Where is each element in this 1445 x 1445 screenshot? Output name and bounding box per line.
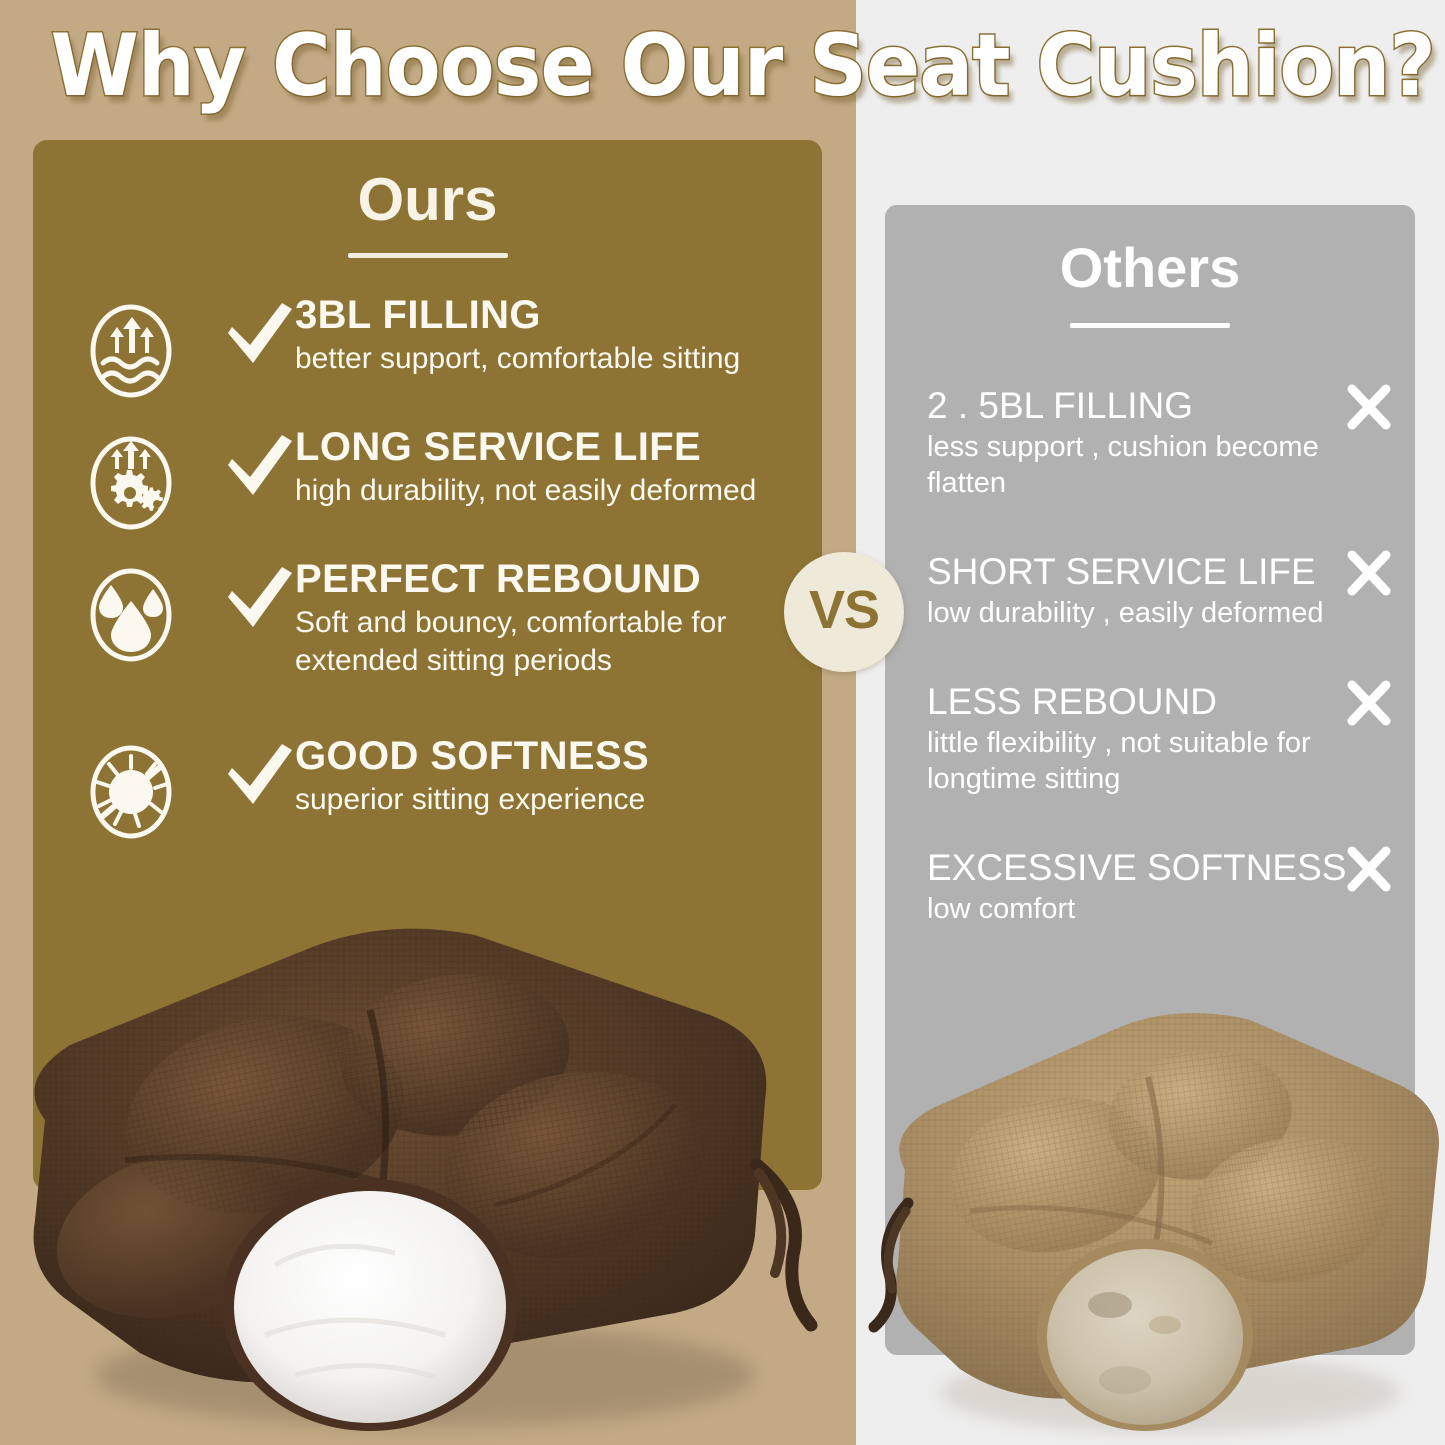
durability-gears-icon	[85, 433, 177, 533]
others-item-title: 2 . 5BL FILLING	[927, 383, 1382, 429]
others-heading-divider	[1070, 323, 1230, 328]
others-item-title: SHORT SERVICE LIFE	[927, 549, 1382, 595]
others-item-subtitle: less support , cushion become flatten	[927, 429, 1397, 501]
vs-badge: VS	[784, 552, 904, 672]
others-list-item: 2 . 5BL FILLING less support , cushion b…	[927, 383, 1382, 501]
ours-item-text: LONG SERVICE LIFE high durability, not e…	[295, 423, 815, 510]
ours-heading: Ours	[33, 165, 822, 234]
ours-item-title: 3BL FILLING	[295, 291, 815, 339]
check-icon	[220, 561, 300, 639]
others-list-item: SHORT SERVICE LIFE low durability , easi…	[927, 549, 1382, 631]
ours-item-text: GOOD SOFTNESS superior sitting experienc…	[295, 732, 815, 819]
cross-icon	[1344, 679, 1394, 727]
others-list-item: LESS REBOUND little flexibility , not su…	[927, 679, 1382, 797]
ours-feature-list: 3BL FILLING better support, comfortable …	[55, 295, 815, 868]
page-title: Why Choose Our Seat Cushion?	[51, 10, 1395, 122]
ours-item-text: 3BL FILLING better support, comfortable …	[295, 291, 815, 378]
cross-icon	[1344, 383, 1394, 431]
others-feature-list: 2 . 5BL FILLING less support , cushion b…	[927, 383, 1382, 975]
breathable-airflow-icon	[85, 301, 177, 401]
cross-icon	[1344, 549, 1394, 597]
anti-bacterial-icon	[85, 742, 177, 842]
check-icon	[220, 429, 300, 507]
tan-seat-cushion-photo	[860, 985, 1445, 1445]
cross-icon	[1344, 845, 1394, 893]
others-item-title: EXCESSIVE SOFTNESS	[927, 845, 1382, 891]
ours-list-item: 3BL FILLING better support, comfortable …	[55, 295, 815, 415]
ours-item-subtitle: superior sitting experience	[295, 781, 815, 819]
ours-list-item: GOOD SOFTNESS superior sitting experienc…	[55, 736, 815, 856]
check-icon	[220, 297, 300, 375]
others-item-subtitle: little flexibility , not suitable for lo…	[927, 725, 1397, 797]
others-item-title: LESS REBOUND	[927, 679, 1382, 725]
page-title-banner: Why Choose Our Seat Cushion?	[0, 10, 1445, 122]
check-icon	[220, 738, 300, 816]
ours-item-title: LONG SERVICE LIFE	[295, 423, 815, 471]
ours-item-title: PERFECT REBOUND	[295, 555, 815, 603]
others-list-item: EXCESSIVE SOFTNESS low comfort	[927, 845, 1382, 927]
ours-item-text: PERFECT REBOUND Soft and bouncy, comfort…	[295, 555, 815, 680]
others-heading: Others	[885, 235, 1415, 300]
ours-list-item: PERFECT REBOUND Soft and bouncy, comfort…	[55, 559, 815, 724]
ours-item-subtitle: high durability, not easily deformed	[295, 472, 815, 510]
others-item-subtitle: low comfort	[927, 891, 1397, 927]
water-drops-icon	[85, 565, 177, 665]
ours-heading-divider	[348, 253, 508, 258]
ours-list-item: LONG SERVICE LIFE high durability, not e…	[55, 427, 815, 547]
brown-seat-cushion-photo	[0, 905, 855, 1445]
vs-label: VS	[809, 579, 879, 641]
ours-item-subtitle: better support, comfortable sitting	[295, 340, 815, 378]
infographic-canvas: Why Choose Our Seat Cushion? Ours	[0, 0, 1445, 1445]
ours-item-title: GOOD SOFTNESS	[295, 732, 815, 780]
ours-item-subtitle: Soft and bouncy, comfortable for extende…	[295, 604, 815, 680]
others-item-subtitle: low durability , easily deformed	[927, 595, 1397, 631]
